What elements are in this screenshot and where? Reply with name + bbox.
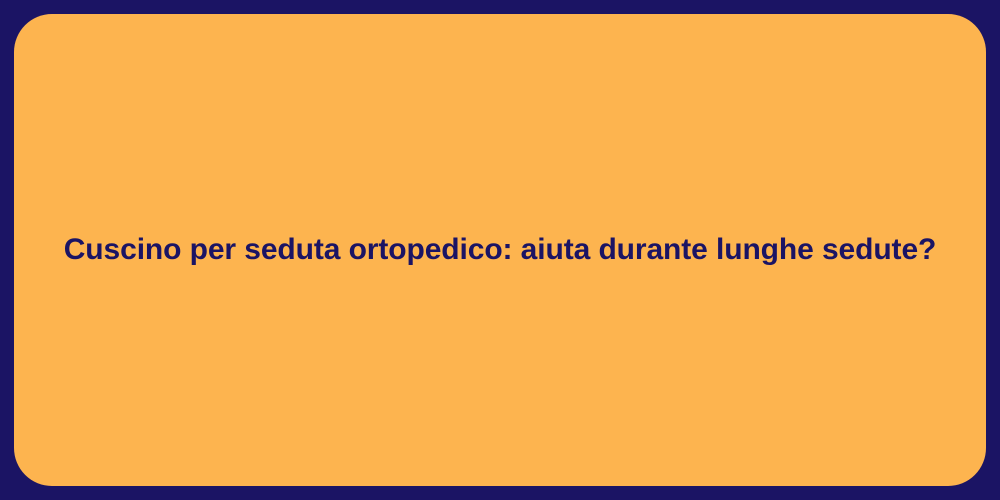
banner-title: Cuscino per seduta ortopedico: aiuta dur…: [40, 231, 961, 269]
banner-panel: Cuscino per seduta ortopedico: aiuta dur…: [14, 14, 986, 486]
banner-frame: Cuscino per seduta ortopedico: aiuta dur…: [0, 0, 1000, 500]
